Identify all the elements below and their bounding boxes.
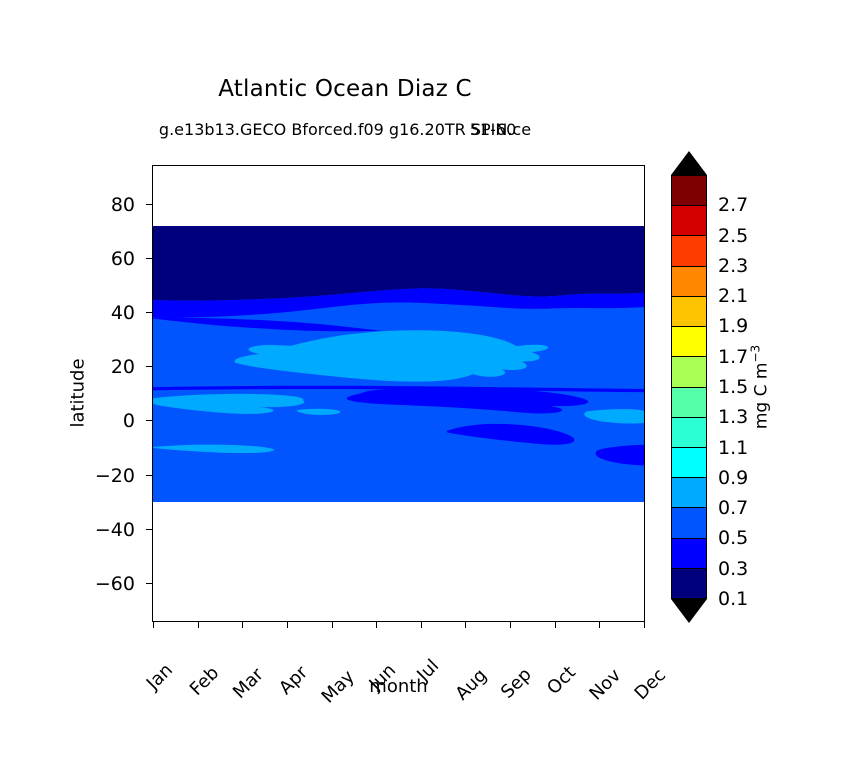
x-tick-label: Mar xyxy=(229,664,268,703)
colorbar-segment xyxy=(672,418,706,448)
x-tick: Dec xyxy=(644,621,645,628)
page-title: Atlantic Ocean Diaz C xyxy=(0,76,690,102)
y-tick: 80 xyxy=(146,204,153,205)
colorbar-segment xyxy=(672,176,706,206)
colorbar-tick-label: 2.7 xyxy=(718,194,748,216)
colorbar-tick-label: 2.1 xyxy=(718,285,748,307)
colorbar-extend-max-arrow xyxy=(666,150,712,175)
colorbar-tick-label: 0.7 xyxy=(718,497,748,519)
x-tick-label: Nov xyxy=(586,665,626,705)
colorbar-segment xyxy=(672,539,706,569)
colorbar-segment xyxy=(672,569,706,598)
contour-data-area xyxy=(153,166,644,621)
y-tick: 40 xyxy=(146,312,153,313)
colorbar-tick-label: 1.3 xyxy=(718,406,748,428)
contour-svg xyxy=(153,226,644,502)
x-tick: Nov xyxy=(599,621,600,628)
colorbar: 2.72.52.32.11.91.71.51.31.10.90.70.50.30… xyxy=(666,150,712,624)
x-tick: May xyxy=(332,621,333,628)
contour-field xyxy=(153,226,644,502)
colorbar-segment xyxy=(672,357,706,387)
colorbar-tick-label: 0.5 xyxy=(718,527,748,549)
colorbar-segment xyxy=(672,478,706,508)
x-tick-label: Sep xyxy=(497,664,536,703)
colorbar-segment xyxy=(672,327,706,357)
colorbar-segment xyxy=(672,206,706,236)
colorbar-segment xyxy=(672,388,706,418)
x-tick-label: Aug xyxy=(452,665,492,705)
colorbar-extend-min-arrow xyxy=(666,599,712,624)
y-tick-label: −60 xyxy=(95,573,135,595)
colorbar-tick-label: 2.3 xyxy=(718,255,748,277)
x-tick: Mar xyxy=(242,621,243,628)
colorbar-title: mg C m−3 xyxy=(749,345,772,429)
y-tick-label: 40 xyxy=(111,302,135,324)
y-tick-label: 60 xyxy=(111,248,135,270)
subtitle-years-text: 51-60 xyxy=(470,120,517,139)
colorbar-tick-label: 0.9 xyxy=(718,467,748,489)
y-tick: 20 xyxy=(146,366,153,367)
x-tick-label: Dec xyxy=(631,665,670,704)
x-tick: Jun xyxy=(376,621,377,628)
plot-axes: 80 60 40 20 0 −20 −40 −60 Jan Feb Mar Ap… xyxy=(152,165,645,622)
colorbar-segment xyxy=(672,236,706,266)
y-tick: −20 xyxy=(146,475,153,476)
y-tick: 0 xyxy=(146,420,153,421)
x-tick: Jan xyxy=(153,621,154,628)
y-tick-label: 80 xyxy=(111,194,135,216)
colorbar-title-text: mg C m xyxy=(751,363,771,430)
x-tick: Jul xyxy=(421,621,422,628)
colorbar-tick-label: 2.5 xyxy=(718,225,748,247)
colorbar-tick-label: 0.1 xyxy=(718,588,748,610)
colorbar-tick-label: 1.9 xyxy=(718,315,748,337)
x-tick: Aug xyxy=(465,621,466,628)
colorbar-tick-label: 0.3 xyxy=(718,558,748,580)
colorbar-segment xyxy=(672,508,706,538)
figure-subtitle-years: 51-60 xyxy=(0,120,690,139)
y-tick-label: −20 xyxy=(95,465,135,487)
colorbar-tick-label: 1.7 xyxy=(718,346,748,368)
colorbar-gradient xyxy=(671,175,707,599)
y-tick-label: 20 xyxy=(111,356,135,378)
y-tick: 60 xyxy=(146,258,153,259)
x-tick: Feb xyxy=(198,621,199,628)
y-tick: −40 xyxy=(146,529,153,530)
colorbar-tick-label: 1.1 xyxy=(718,437,748,459)
y-tick-label: 0 xyxy=(123,410,135,432)
colorbar-segment xyxy=(672,297,706,327)
colorbar-segment xyxy=(672,448,706,478)
y-axis-label: latitude xyxy=(68,358,89,427)
x-tick-label: May xyxy=(317,666,358,707)
colorbar-segment xyxy=(672,267,706,297)
x-tick: Sep xyxy=(510,621,511,628)
x-tick: Apr xyxy=(287,621,288,628)
y-tick: −60 xyxy=(146,583,153,584)
colorbar-title-exponent: −3 xyxy=(749,345,763,363)
y-tick-label: −40 xyxy=(95,519,135,541)
colorbar-tick-label: 1.5 xyxy=(718,376,748,398)
figure-canvas: Atlantic Ocean Diaz C g.e13b13.GECO Bfor… xyxy=(0,0,851,783)
x-tick: Oct xyxy=(555,621,556,628)
